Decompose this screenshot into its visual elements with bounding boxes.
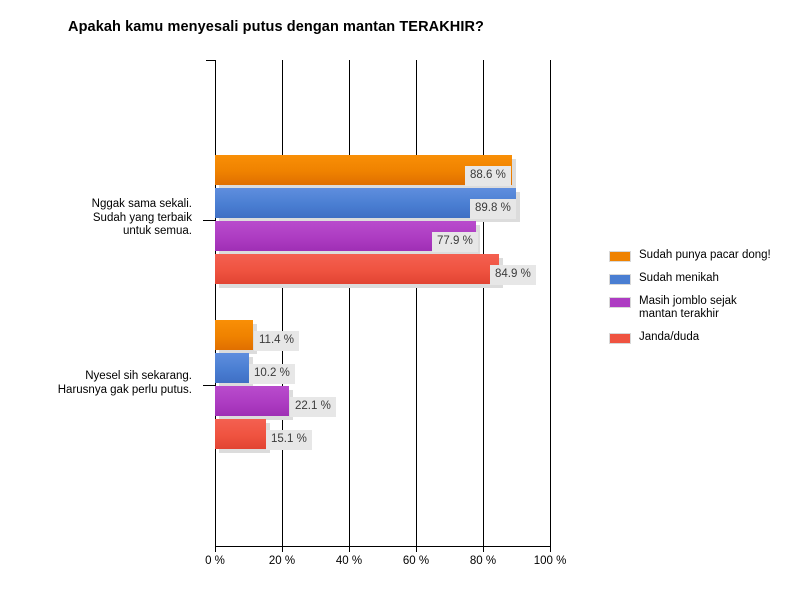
legend-item-1[interactable]: Sudah menikah — [609, 272, 795, 285]
value-label-2-1: 22.1 % — [290, 397, 336, 417]
category-tick-0 — [203, 220, 215, 221]
x-axis-line — [215, 546, 551, 547]
legend-item-label: Sudah menikah — [639, 272, 719, 285]
gridline-40 — [349, 60, 350, 546]
category-label-1: Nyesel sih sekarang.Harusnya gak perlu p… — [22, 370, 192, 397]
legend-item-label-line: Sudah punya pacar dong! — [639, 249, 771, 262]
x-tick-60 — [416, 547, 417, 552]
gridline-100 — [550, 60, 551, 546]
legend-swatch-icon — [609, 251, 631, 262]
category-label-line: Harusnya gak perlu putus. — [22, 384, 192, 398]
legend-swatch-icon — [609, 297, 631, 308]
bar-1-1[interactable] — [215, 353, 249, 383]
value-label-0-0: 88.6 % — [465, 166, 511, 186]
category-label-0: Nggak sama sekali.Sudah yang terbaikuntu… — [22, 198, 192, 239]
legend-swatch-icon — [609, 274, 631, 285]
bar-chart: Apakah kamu menyesali putus dengan manta… — [0, 0, 800, 600]
x-tick-label-40: 40 % — [336, 555, 362, 567]
value-label-1-1: 10.2 % — [249, 364, 295, 384]
value-label-3-0: 84.9 % — [490, 265, 536, 285]
legend-item-0[interactable]: Sudah punya pacar dong! — [609, 249, 795, 262]
gridline-60 — [416, 60, 417, 546]
bar-2-1[interactable] — [215, 386, 289, 416]
gridline-80 — [483, 60, 484, 546]
category-label-line: Sudah yang terbaik — [22, 212, 192, 226]
x-tick-label-20: 20 % — [269, 555, 295, 567]
value-label-3-1: 15.1 % — [266, 430, 312, 450]
chart-title: Apakah kamu menyesali putus dengan manta… — [68, 19, 484, 35]
legend-item-label: Masih jomblo sejakmantan terakhir — [639, 295, 737, 321]
x-tick-100 — [550, 547, 551, 552]
value-label-2-0: 77.9 % — [432, 232, 478, 252]
x-tick-40 — [349, 547, 350, 552]
category-label-line: untuk semua. — [22, 225, 192, 239]
x-tick-80 — [483, 547, 484, 552]
legend-item-label-line: mantan terakhir — [639, 308, 737, 321]
legend-item-label-line: Janda/duda — [639, 331, 699, 344]
x-tick-label-0: 0 % — [205, 555, 225, 567]
x-tick-0 — [215, 547, 216, 552]
gridline-0 — [215, 60, 216, 546]
x-tick-label-100: 100 % — [534, 555, 567, 567]
bar-0-1[interactable] — [215, 320, 253, 350]
category-tick-1 — [203, 385, 215, 386]
bar-3-1[interactable] — [215, 419, 266, 449]
legend-item-2[interactable]: Masih jomblo sejakmantan terakhir — [609, 295, 795, 321]
legend-item-label-line: Sudah menikah — [639, 272, 719, 285]
legend-item-3[interactable]: Janda/duda — [609, 331, 795, 344]
x-tick-label-60: 60 % — [403, 555, 429, 567]
x-tick-20 — [282, 547, 283, 552]
category-label-line: Nyesel sih sekarang. — [22, 370, 192, 384]
value-label-1-0: 89.8 % — [470, 199, 516, 219]
legend-item-label-line: Masih jomblo sejak — [639, 295, 737, 308]
legend-item-label: Sudah punya pacar dong! — [639, 249, 771, 262]
legend: Sudah punya pacar dong!Sudah menikahMasi… — [609, 249, 795, 354]
x-tick-label-80: 80 % — [470, 555, 496, 567]
category-label-line: Nggak sama sekali. — [22, 198, 192, 212]
plot-area — [215, 60, 550, 546]
bar-3-0[interactable] — [215, 254, 499, 284]
legend-item-label: Janda/duda — [639, 331, 699, 344]
value-label-0-1: 11.4 % — [254, 331, 299, 351]
x-axis-top-cap — [206, 60, 216, 61]
legend-swatch-icon — [609, 333, 631, 344]
gridline-20 — [282, 60, 283, 546]
